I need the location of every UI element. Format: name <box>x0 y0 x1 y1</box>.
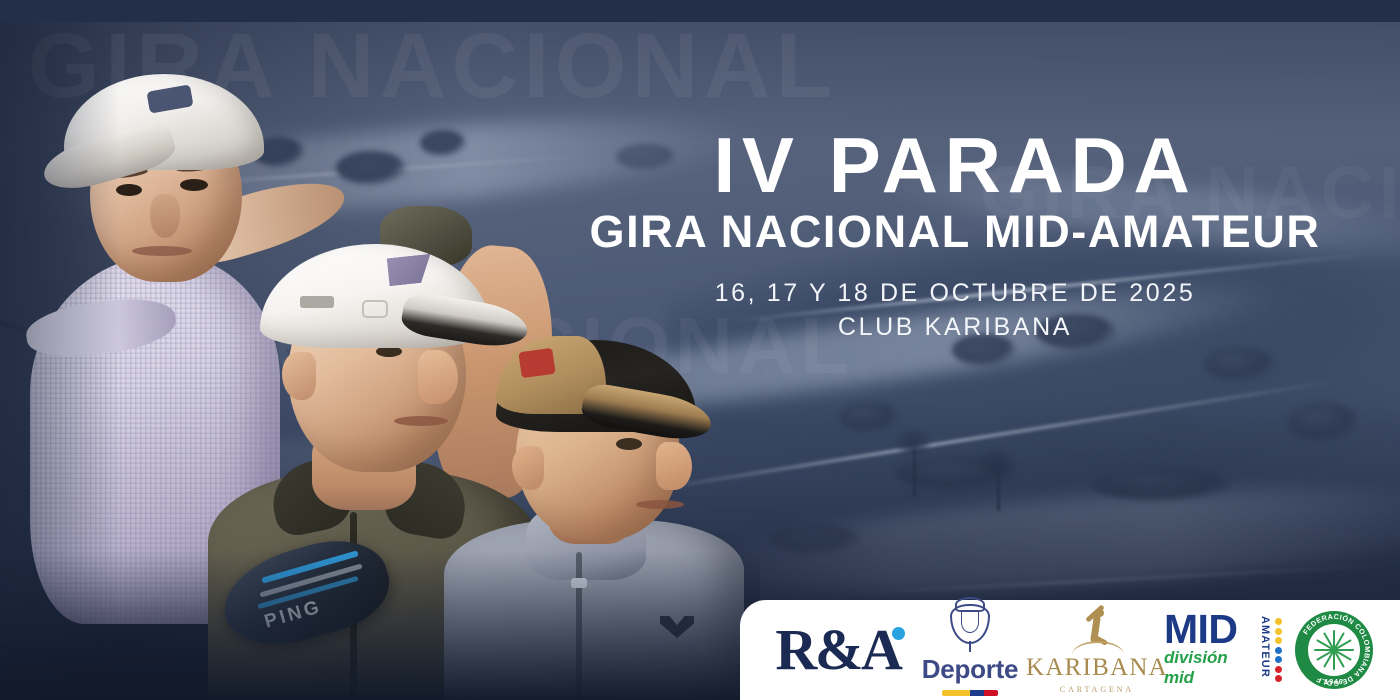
golfer-right-zipper-pull <box>571 578 587 588</box>
mid-dot <box>1275 637 1282 644</box>
karibana-logo-subtext: CARTAGENA <box>1060 685 1134 694</box>
mid-dot <box>1275 675 1282 682</box>
fcg-starburst <box>1307 623 1361 677</box>
mid-dot <box>1275 666 1282 673</box>
event-venue: CLUB KARIBANA <box>560 310 1350 345</box>
golfer-right-ear <box>512 446 544 490</box>
golfer-left-eye <box>116 184 142 196</box>
event-dates: 16, 17 Y 18 DE OCTUBRE DE 2025 <box>560 276 1350 311</box>
mid-dot <box>1275 647 1282 654</box>
mid-logo-amateur-text: AMATEUR <box>1259 616 1271 678</box>
golfer-center-cap-side-logo <box>300 296 334 308</box>
golfer-center-cap-marker <box>362 300 388 318</box>
mid-dot <box>1275 618 1282 625</box>
mid-logo-text: MID <box>1164 612 1237 647</box>
karibana-logo-text: KARIBANA <box>1026 654 1168 682</box>
golfers-photo-montage: PING <box>0 22 760 700</box>
ra-logo[interactable]: R&A <box>740 600 910 700</box>
ra-logo-text: R&A <box>775 621 900 679</box>
top-bar <box>0 0 1400 22</box>
silhouette-arc <box>1072 641 1124 655</box>
ra-logo-dot-icon <box>892 627 905 640</box>
event-banner: GIRA NACIONAL GIRA NACIONAL GIRA NACIONA… <box>0 0 1400 700</box>
golfer-left-nose <box>150 194 180 238</box>
flag-stripe-red <box>984 690 998 696</box>
fcg-logo[interactable]: FEDERACIÓN COLOMBIANA DE GOLF <box>1282 600 1386 700</box>
golfer-right-nose <box>656 442 692 490</box>
golfer-right-eye <box>616 438 642 450</box>
event-title: IV PARADA <box>560 128 1350 203</box>
deporte-logo[interactable]: Deporte <box>910 600 1030 700</box>
crest-stem <box>969 641 971 652</box>
fcg-center-dot <box>1331 647 1338 654</box>
mid-dot <box>1275 656 1282 663</box>
title-block: IV PARADA GIRA NACIONAL MID-AMATEUR 16, … <box>560 128 1350 345</box>
golfer-left-eye <box>180 179 208 191</box>
golfer-right-zipper <box>576 552 582 700</box>
mid-logo-dots <box>1275 618 1282 682</box>
golfer-right-mouth <box>636 500 684 509</box>
mid-logo-subtext: división mid <box>1164 648 1257 688</box>
golfer-right <box>430 342 760 700</box>
karibana-logo[interactable]: KARIBANA CARTAGENA <box>1030 600 1164 700</box>
golfer-silhouette-icon <box>1074 607 1120 651</box>
event-subtitle: GIRA NACIONAL MID-AMATEUR <box>560 209 1350 254</box>
flag-stripe-blue <box>970 690 984 696</box>
fcg-seal-icon: FEDERACIÓN COLOMBIANA DE GOLF <box>1295 611 1373 689</box>
golfer-center-ear <box>282 352 316 400</box>
colombia-flag-icon <box>942 690 998 696</box>
sponsor-logo-panel: R&A Deporte KARIB <box>740 600 1400 700</box>
mid-dot <box>1275 628 1282 635</box>
fcg-founding-year: 1946 <box>1325 679 1344 686</box>
deporte-logo-text: Deporte <box>922 654 1018 685</box>
golfer-right-cap-badge <box>518 348 555 378</box>
colombia-coat-of-arms-icon <box>950 604 990 644</box>
mid-logo[interactable]: MID división mid AMATEUR <box>1164 600 1282 700</box>
flag-stripe-yellow <box>942 690 970 696</box>
